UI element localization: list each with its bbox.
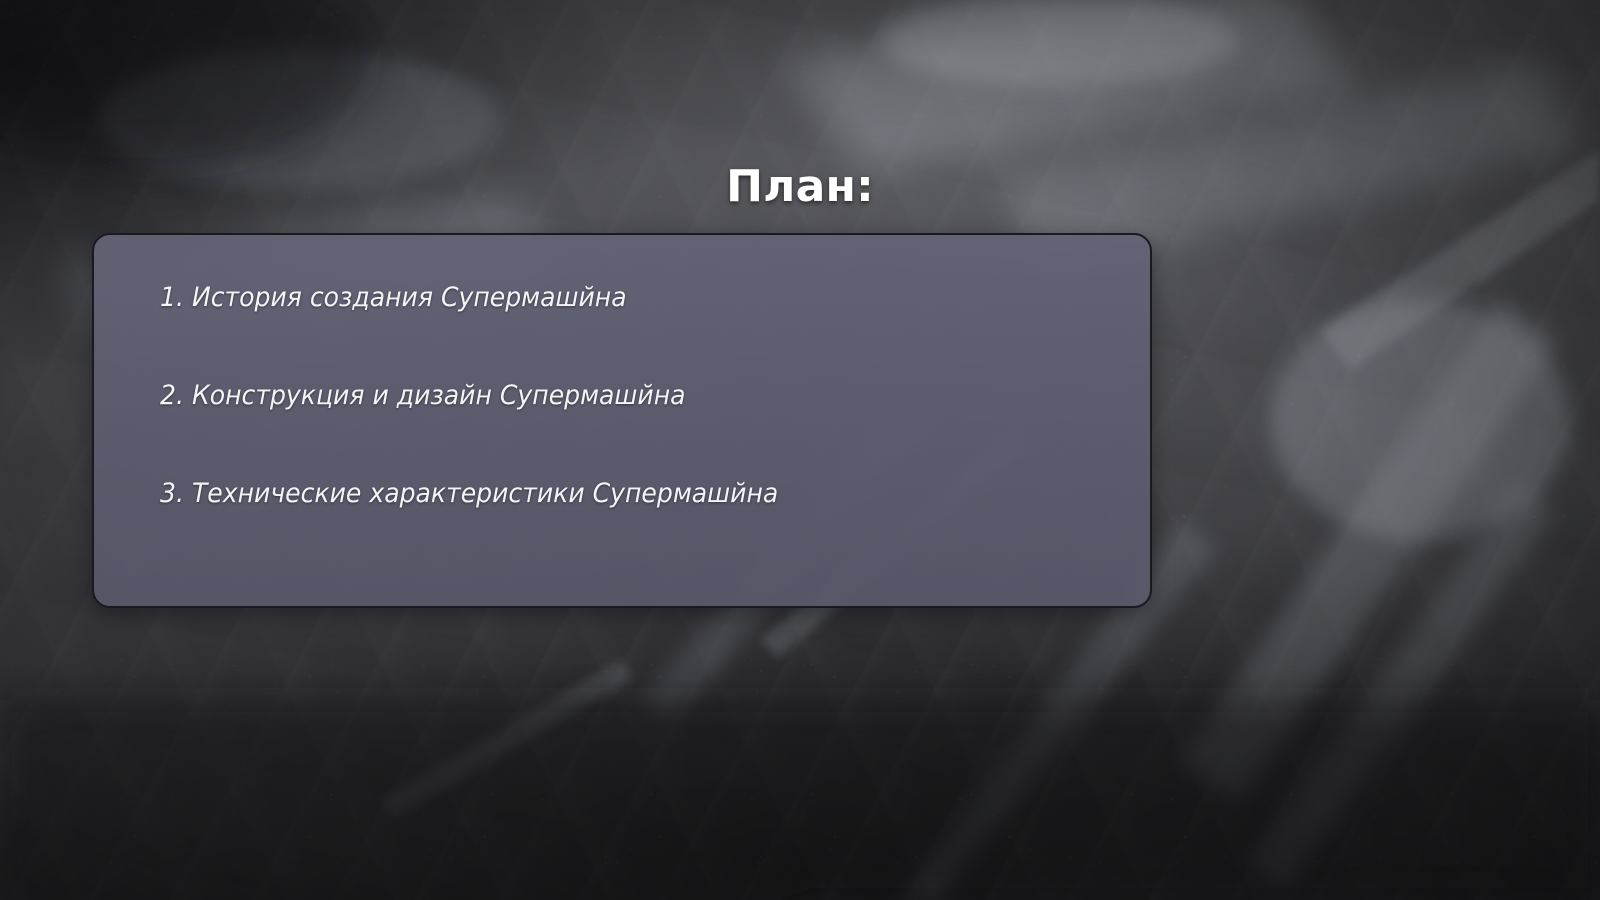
list-item: 3. Технические характеристики Супермашйн… [160, 475, 1058, 513]
list-item: 2. Конструкция и дизайн Супермашйна [160, 377, 1058, 415]
presentation-slide: План: 1. История создания Супермашйна 2.… [0, 0, 1600, 900]
plan-list: 1. История создания Супермашйна 2. Конст… [160, 279, 1126, 513]
list-item: 1. История создания Супермашйна [160, 279, 1058, 317]
page-title: План: [0, 160, 1600, 214]
plan-card: 1. История создания Супермашйна 2. Конст… [92, 233, 1152, 608]
